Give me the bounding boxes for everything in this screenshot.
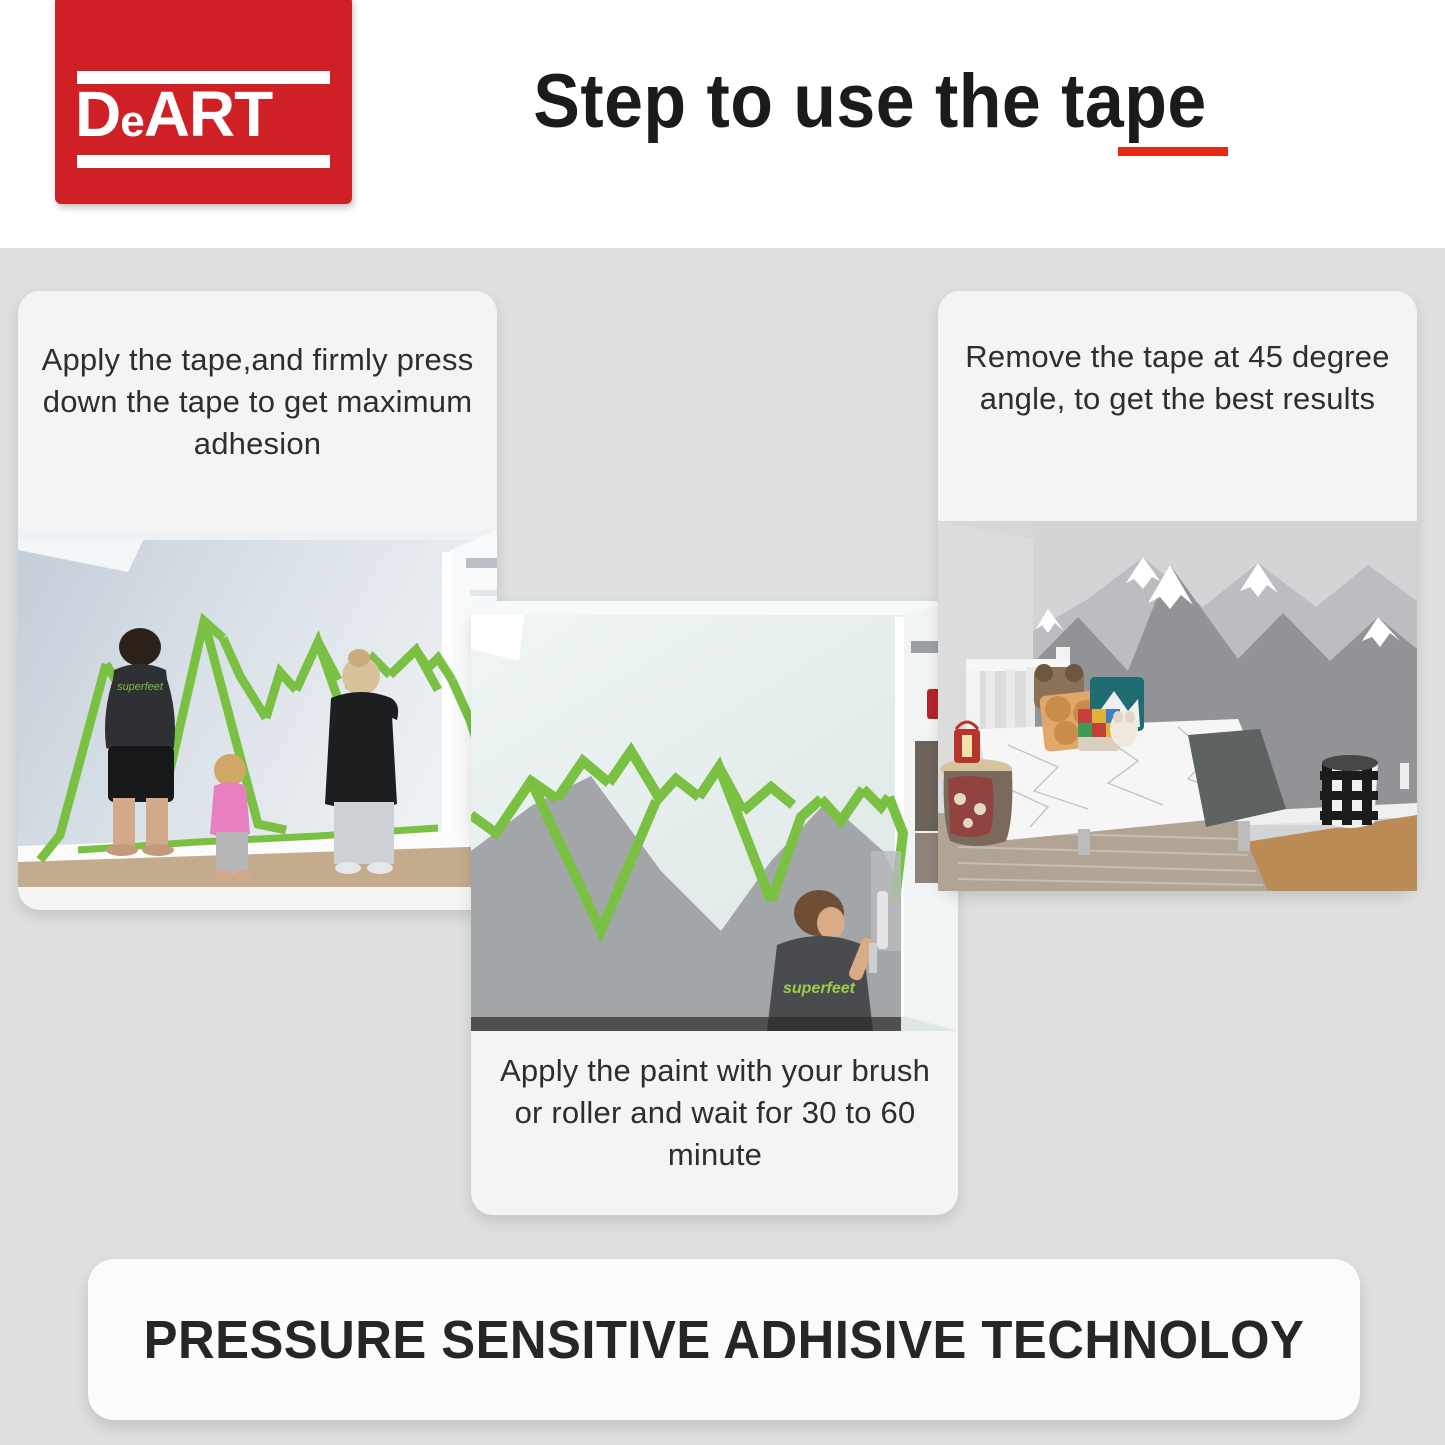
logo-letters-art: ART [144,82,273,146]
logo-wordmark: D e ART [75,82,335,152]
brand-logo: D e ART [55,0,352,204]
logo-letter-e: e [120,90,143,154]
step-caption-paint: Apply the paint with your brush or rolle… [495,1050,935,1176]
photo-paint-illustration: superfeet [471,601,958,1031]
photo-apply-paint: superfeet [471,601,958,1031]
photo-apply-tape: superfeet [18,530,497,887]
plaid-basket [1320,755,1378,828]
banner-headline: PRESSURE SENSITIVE ADHISIVE TECHNOLOY [126,1259,1322,1420]
logo-letter-d: D [75,82,120,146]
photo-remove-tape [938,521,1417,891]
logo-bottom-bar [77,155,330,168]
person-child [210,754,251,880]
page-header: D e ART Step to use the tape [0,0,1445,248]
photo-remove-illustration [938,521,1417,891]
page-title: Step to use the tape [428,52,1311,152]
photo-apply-illustration: superfeet [18,530,497,887]
svg-text:superfeet: superfeet [783,980,856,997]
svg-text:superfeet: superfeet [117,681,164,693]
infographic-page: D e ART Step to use the tape Apply the t… [0,0,1445,1445]
step-caption-apply: Apply the tape,and firmly press down the… [40,339,475,465]
title-underline-accent [1118,147,1228,156]
bottom-banner: PRESSURE SENSITIVE ADHISIVE TECHNOLOY [88,1259,1360,1420]
step-caption-remove: Remove the tape at 45 degree angle, to g… [960,336,1395,420]
